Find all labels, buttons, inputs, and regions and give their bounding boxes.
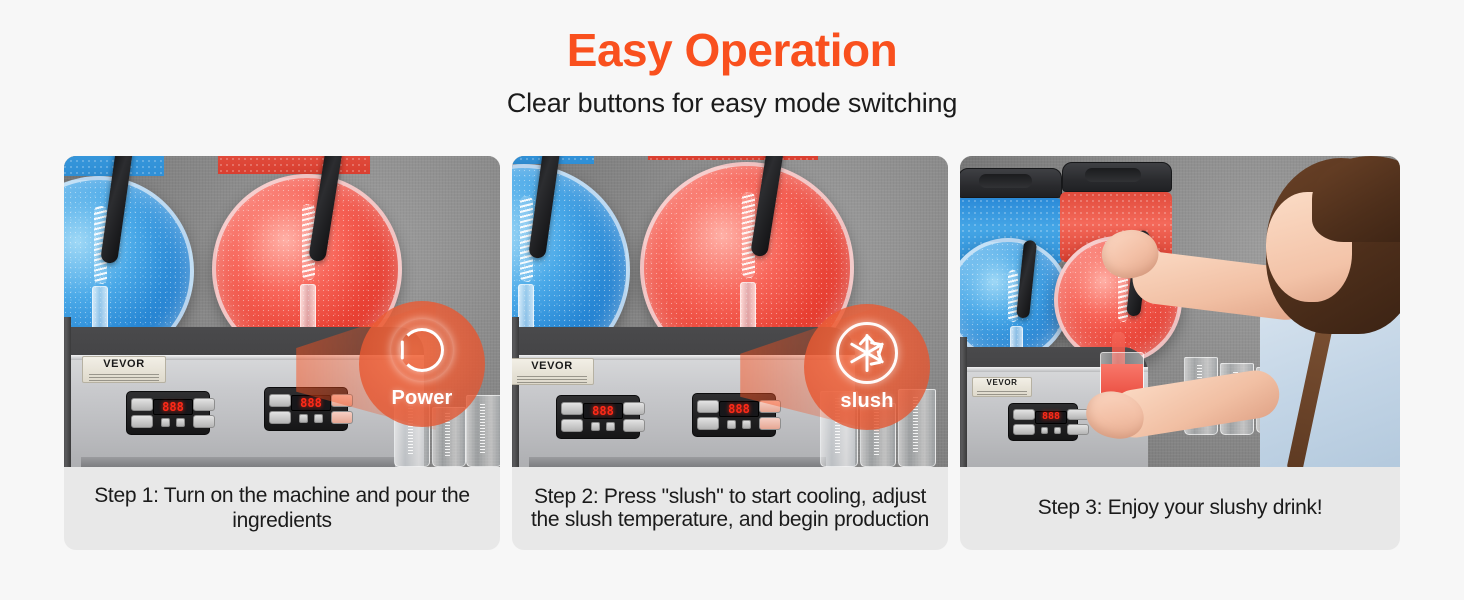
display-value: 888 — [300, 397, 322, 409]
button-left-top-2[interactable] — [697, 400, 719, 413]
button-left-top[interactable] — [1013, 409, 1035, 420]
mode-button-cool-icon-2[interactable] — [299, 414, 308, 423]
mode-button-cool-icon[interactable] — [591, 422, 600, 431]
button-left-bottom[interactable] — [1013, 424, 1035, 435]
mode-buttons-left[interactable] — [1041, 427, 1061, 434]
mode-button-snow-icon-2[interactable] — [314, 414, 323, 423]
tank-lid-red — [1062, 162, 1172, 192]
drip-tray — [529, 457, 825, 467]
control-panel-left[interactable]: 888 — [1008, 403, 1078, 441]
badge-label: Power — [391, 387, 452, 410]
control-buttons-left-2[interactable] — [697, 400, 719, 430]
digital-display-left: 888 — [1035, 411, 1067, 424]
display-value: 888 — [592, 405, 614, 417]
digital-display-left: 888 — [583, 403, 623, 419]
mode-button-cool-icon[interactable] — [1041, 427, 1048, 434]
brand-label: VEVOR — [987, 379, 1018, 387]
button-left-bottom-2[interactable] — [697, 417, 719, 430]
machine-side-edge — [960, 337, 967, 467]
tank-red — [640, 156, 868, 310]
page-subtitle: Clear buttons for easy mode switching — [0, 88, 1464, 119]
mode-button-snow-icon[interactable] — [1054, 427, 1061, 434]
machine-side-edge — [512, 317, 519, 467]
mode-button-snow-icon-2[interactable] — [742, 420, 751, 429]
lid-grip[interactable] — [1085, 168, 1141, 182]
button-left-top[interactable] — [561, 402, 583, 415]
step-1-caption: Step 1: Turn on the machine and pour the… — [64, 467, 500, 550]
control-buttons-left-2[interactable] — [269, 394, 291, 424]
slush-callout-badge[interactable]: slush — [804, 304, 930, 430]
digital-display-left: 888 — [153, 399, 193, 415]
plate-fineprint — [89, 372, 159, 381]
hopper-red — [648, 156, 818, 160]
header: Easy Operation Clear buttons for easy mo… — [0, 0, 1464, 119]
vevor-brand-plate: VEVOR — [82, 356, 166, 383]
hopper-red — [218, 156, 370, 174]
control-buttons-left[interactable] — [131, 398, 153, 428]
tank-blue — [64, 156, 204, 306]
snowflake-icon — [836, 322, 898, 384]
slush-button[interactable] — [331, 411, 353, 424]
step-card-row: VEVOR 888 — [64, 156, 1400, 550]
plate-fineprint — [977, 389, 1027, 395]
display-value: 888 — [1042, 412, 1060, 422]
button-left-bottom[interactable] — [561, 419, 583, 432]
mode-button-snow-icon[interactable] — [176, 418, 185, 427]
drip-tray — [81, 457, 395, 467]
vevor-brand-plate: VEVOR — [972, 377, 1032, 397]
button-right-bottom[interactable] — [1067, 424, 1089, 435]
display-value: 888 — [728, 403, 750, 415]
button-right-bottom[interactable] — [193, 415, 215, 428]
button-left-top[interactable] — [131, 398, 153, 411]
step-3-photo: VEVOR 888 — [960, 156, 1400, 467]
display-group-left: 888 — [1035, 411, 1067, 434]
mode-buttons-left[interactable] — [161, 418, 185, 427]
mode-button-snow-icon[interactable] — [606, 422, 615, 431]
brand-label: VEVOR — [531, 361, 573, 372]
digital-display-right: 888 — [719, 401, 759, 417]
badge-label: slush — [840, 390, 893, 413]
caption-text: Step 1: Turn on the machine and pour the… — [78, 484, 486, 532]
tank-red — [204, 156, 409, 307]
mode-buttons-right[interactable] — [727, 420, 751, 429]
step-card-2[interactable]: VEVOR 888 — [512, 156, 948, 550]
control-buttons-right-left-panel[interactable] — [193, 398, 215, 428]
caption-text: Step 3: Enjoy your slushy drink! — [1038, 496, 1323, 520]
tank-lid-blue — [960, 168, 1062, 198]
button-left-bottom[interactable] — [131, 415, 153, 428]
button-right-top[interactable] — [623, 402, 645, 415]
lid-grip[interactable] — [979, 174, 1032, 188]
control-buttons-left[interactable] — [1013, 409, 1035, 435]
power-bar — [401, 340, 404, 359]
vevor-brand-plate: VEVOR — [512, 358, 594, 385]
mode-button-cool-icon-2[interactable] — [727, 420, 736, 429]
step-3-caption: Step 3: Enjoy your slushy drink! — [960, 467, 1400, 550]
brand-label: VEVOR — [103, 359, 145, 370]
display-group-right: 888 — [719, 401, 759, 429]
snowflake-glyph — [847, 333, 887, 373]
step-2-caption: Step 2: Press "slush" to start cooling, … — [512, 467, 948, 550]
slush-button[interactable] — [759, 417, 781, 430]
button-left-bottom-2[interactable] — [269, 411, 291, 424]
machine-side-edge — [64, 317, 71, 467]
power-icon — [391, 319, 453, 381]
control-panel-left[interactable]: 888 — [126, 391, 210, 435]
button-right-bottom[interactable] — [623, 419, 645, 432]
control-buttons-right-left-panel[interactable] — [623, 402, 645, 432]
power-arc — [400, 328, 444, 372]
caption-text: Step 2: Press "slush" to start cooling, … — [526, 486, 934, 531]
button-left-top-2[interactable] — [269, 394, 291, 407]
page-title: Easy Operation — [0, 26, 1464, 74]
button-right-top[interactable] — [193, 398, 215, 411]
glass-3 — [466, 395, 500, 467]
display-value: 888 — [162, 401, 184, 413]
plate-fineprint — [517, 374, 587, 383]
control-buttons-left[interactable] — [561, 402, 583, 432]
step-2-photo: VEVOR 888 — [512, 156, 948, 467]
infographic-page: Easy Operation Clear buttons for easy mo… — [0, 0, 1464, 600]
power-callout-badge[interactable]: Power — [359, 301, 485, 427]
mode-buttons-right[interactable] — [299, 414, 323, 423]
step-card-1[interactable]: VEVOR 888 — [64, 156, 500, 550]
mode-button-cool-icon[interactable] — [161, 418, 170, 427]
tank-blue — [512, 156, 644, 310]
display-group-left: 888 — [583, 403, 623, 431]
control-panel-left[interactable]: 888 — [556, 395, 640, 439]
step-card-3[interactable]: VEVOR 888 — [960, 156, 1400, 550]
display-group-left: 888 — [153, 399, 193, 427]
mode-buttons-left[interactable] — [591, 422, 615, 431]
step-1-photo: VEVOR 888 — [64, 156, 500, 467]
